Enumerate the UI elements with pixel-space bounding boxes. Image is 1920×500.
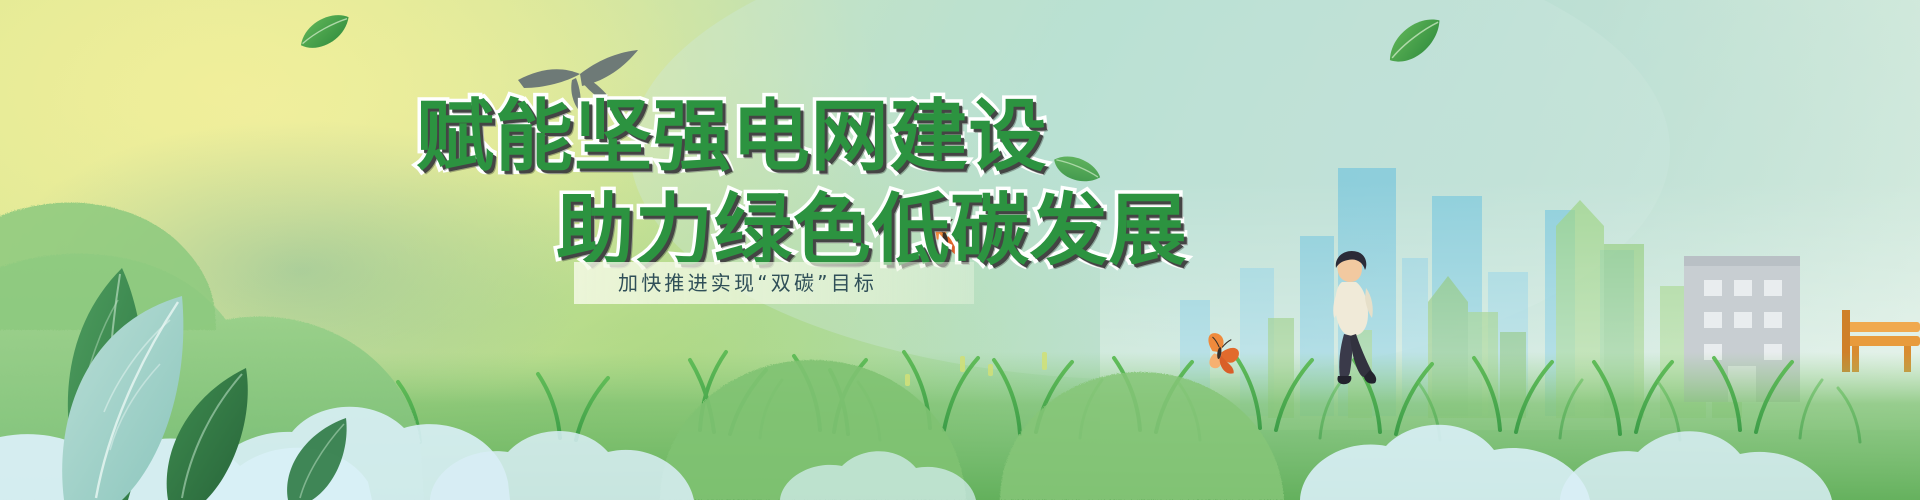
green-energy-banner: 赋能坚强电网建设 助力绿色低碳发展 加快推进实现“双碳”目标 [0, 0, 1920, 500]
walking-person [0, 0, 1920, 500]
